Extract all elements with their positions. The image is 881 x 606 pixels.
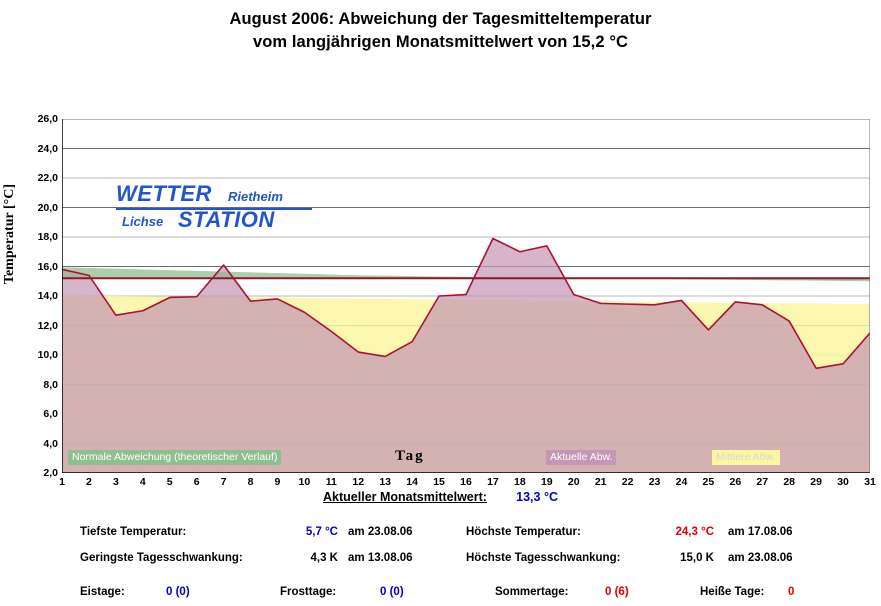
x-tick-label: 14 <box>401 476 423 489</box>
y-tick-label: 14,0 <box>24 291 58 301</box>
chart-legend: Normale Abweichung (theoretischer Verlau… <box>0 450 881 470</box>
x-tick-label: 11 <box>320 476 342 489</box>
max-range-label: Höchste Tagesschwankung: <box>466 552 644 564</box>
x-tick-label: 25 <box>697 476 719 489</box>
min-temp-label: Tiefste Temperatur: <box>80 526 270 538</box>
frost-days-label: Frosttage: <box>280 586 336 598</box>
weatherstation-logo: WETTER Rietheim Lichse STATION <box>116 182 312 238</box>
x-tick-label: 9 <box>266 476 288 489</box>
x-tick-label: 22 <box>617 476 639 489</box>
x-tick-label: 1 <box>51 476 73 489</box>
max-temp-label: Höchste Temperatur: <box>466 526 644 538</box>
y-tick-label: 6,0 <box>24 409 58 419</box>
x-tick-label: 30 <box>832 476 854 489</box>
x-tick-label: 5 <box>159 476 181 489</box>
summer-days-label: Sommertage: <box>495 586 569 598</box>
legend-item-aktuelle-abweichung: Aktuelle Abw. <box>546 450 616 465</box>
frost-days-value: 0 (0) <box>380 586 404 598</box>
ice-days-value: 0 (0) <box>166 586 190 598</box>
min-range-label: Geringste Tagesschwankung: <box>80 552 270 564</box>
title-line-1: August 2006: Abweichung der Tagesmittelt… <box>0 8 881 31</box>
hot-days-value: 0 <box>788 586 794 598</box>
x-tick-label: 15 <box>428 476 450 489</box>
y-tick-label: 4,0 <box>24 439 58 449</box>
y-tick-label: 8,0 <box>24 380 58 390</box>
hot-days-label: Heiße Tage: <box>700 586 764 598</box>
statistics-panel: Aktueller Monatsmittelwert: 13,3 °C Tief… <box>0 490 881 606</box>
x-tick-label: 13 <box>374 476 396 489</box>
logo-row-top: WETTER Rietheim <box>116 182 312 208</box>
y-tick-label: 20,0 <box>24 203 58 213</box>
x-tick-label: 10 <box>293 476 315 489</box>
logo-wetter-text: WETTER <box>116 182 212 206</box>
x-tick-label: 31 <box>859 476 881 489</box>
x-tick-label: 18 <box>509 476 531 489</box>
x-tick-label: 20 <box>563 476 585 489</box>
x-axis-title: Tag <box>395 448 425 465</box>
y-tick-label: 10,0 <box>24 350 58 360</box>
monthly-mean-value: 13,3 °C <box>516 490 558 504</box>
monthly-mean-label: Aktueller Monatsmittelwert: <box>323 490 487 504</box>
monthly-mean-row: Aktueller Monatsmittelwert: 13,3 °C <box>0 490 881 504</box>
y-tick-label: 16,0 <box>24 262 58 272</box>
logo-station-text: STATION <box>178 208 275 232</box>
min-range-value: 4,3 K <box>280 552 338 564</box>
x-tick-label: 29 <box>805 476 827 489</box>
summer-days-value: 0 (6) <box>605 586 629 598</box>
x-tick-label: 24 <box>670 476 692 489</box>
x-tick-label: 6 <box>186 476 208 489</box>
max-range-value: 15,0 K <box>652 552 714 564</box>
title-line-2: vom langjährigen Monatsmittelwert von 15… <box>0 31 881 54</box>
x-tick-label: 23 <box>644 476 666 489</box>
min-temp-value: 5,7 °C <box>280 526 338 538</box>
legend-item-mittlere-abweichung: Mittlere Abw. <box>712 450 780 465</box>
temperature-deviation-plot <box>62 119 870 473</box>
y-tick-label: 24,0 <box>24 144 58 154</box>
x-tick-label: 8 <box>240 476 262 489</box>
y-tick-label: 26,0 <box>24 114 58 124</box>
logo-lichse-text: Lichse <box>122 210 163 234</box>
plot-area <box>62 119 870 473</box>
legend-item-normale-abweichung: Normale Abweichung (theoretischer Verlau… <box>68 450 281 465</box>
min-temp-date: am 23.08.06 <box>348 526 413 538</box>
ice-days-label: Eistage: <box>80 586 125 598</box>
x-tick-label: 28 <box>778 476 800 489</box>
max-temp-value: 24,3 °C <box>652 526 714 538</box>
y-axis-ticks: 26,024,022,020,018,016,014,012,010,08,06… <box>18 119 58 473</box>
max-range-date: am 23.08.06 <box>728 552 793 564</box>
min-range-date: am 13.08.06 <box>348 552 413 564</box>
x-tick-label: 4 <box>132 476 154 489</box>
x-tick-label: 26 <box>724 476 746 489</box>
y-tick-label: 18,0 <box>24 232 58 242</box>
x-tick-label: 17 <box>482 476 504 489</box>
logo-rietheim-text: Rietheim <box>228 185 283 209</box>
x-tick-label: 19 <box>536 476 558 489</box>
x-tick-label: 7 <box>213 476 235 489</box>
max-temp-date: am 17.08.06 <box>728 526 793 538</box>
page-title: August 2006: Abweichung der Tagesmittelt… <box>0 0 881 54</box>
x-tick-label: 27 <box>751 476 773 489</box>
x-tick-label: 21 <box>590 476 612 489</box>
x-tick-label: 2 <box>78 476 100 489</box>
x-tick-label: 16 <box>455 476 477 489</box>
x-tick-label: 3 <box>105 476 127 489</box>
y-tick-label: 22,0 <box>24 173 58 183</box>
y-tick-label: 12,0 <box>24 321 58 331</box>
chart-region: Temperatur [°C] 26,024,022,020,018,016,0… <box>0 54 881 454</box>
logo-row-bottom: Lichse STATION <box>116 210 312 236</box>
x-tick-label: 12 <box>347 476 369 489</box>
